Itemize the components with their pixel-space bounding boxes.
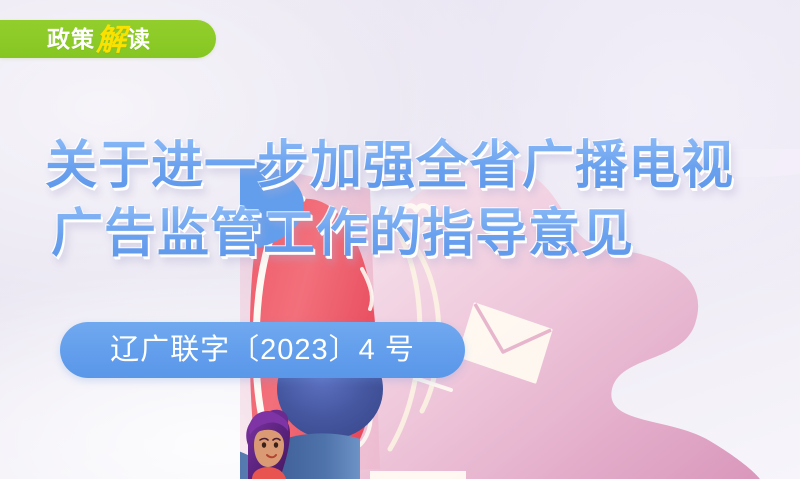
character-shirt	[252, 467, 286, 479]
megaphone-handle	[240, 443, 266, 479]
character-brows	[260, 439, 280, 441]
megaphone-handle-lower	[274, 433, 360, 479]
character-hair-back	[246, 413, 290, 479]
policy-interpretation-poster: 政策 解 读 关于进一步加强全省广播电视 广告监管工作的指导意见 辽广联字〔20…	[0, 0, 800, 479]
character-hair-top	[249, 411, 288, 435]
page-title-line-1: 关于进一步加强全省广播电视	[45, 132, 745, 200]
page-title-line-2: 广告监管工作的指导意见	[45, 200, 745, 268]
character-hair-bun	[270, 410, 288, 423]
background-wash-bottom	[0, 279, 580, 479]
tag-prefix-text: 政策	[47, 28, 95, 51]
tag-accent-text: 解	[96, 26, 126, 56]
character-eyes	[262, 442, 278, 448]
page-title: 关于进一步加强全省广播电视 广告监管工作的指导意见	[45, 132, 745, 268]
document-number-badge: 辽广联字〔2023〕4 号	[60, 322, 465, 378]
character-mouth	[267, 455, 276, 457]
tag-text-group: 政策 解 读	[0, 20, 216, 58]
policy-interpretation-tag: 政策 解 读	[0, 20, 216, 58]
presenter-character	[240, 409, 360, 479]
character-face	[254, 430, 284, 467]
chat-bubble-icon	[370, 471, 466, 479]
tag-suffix-text: 读	[127, 28, 151, 51]
document-number-label: 辽广联字〔2023〕4 号	[110, 336, 415, 365]
